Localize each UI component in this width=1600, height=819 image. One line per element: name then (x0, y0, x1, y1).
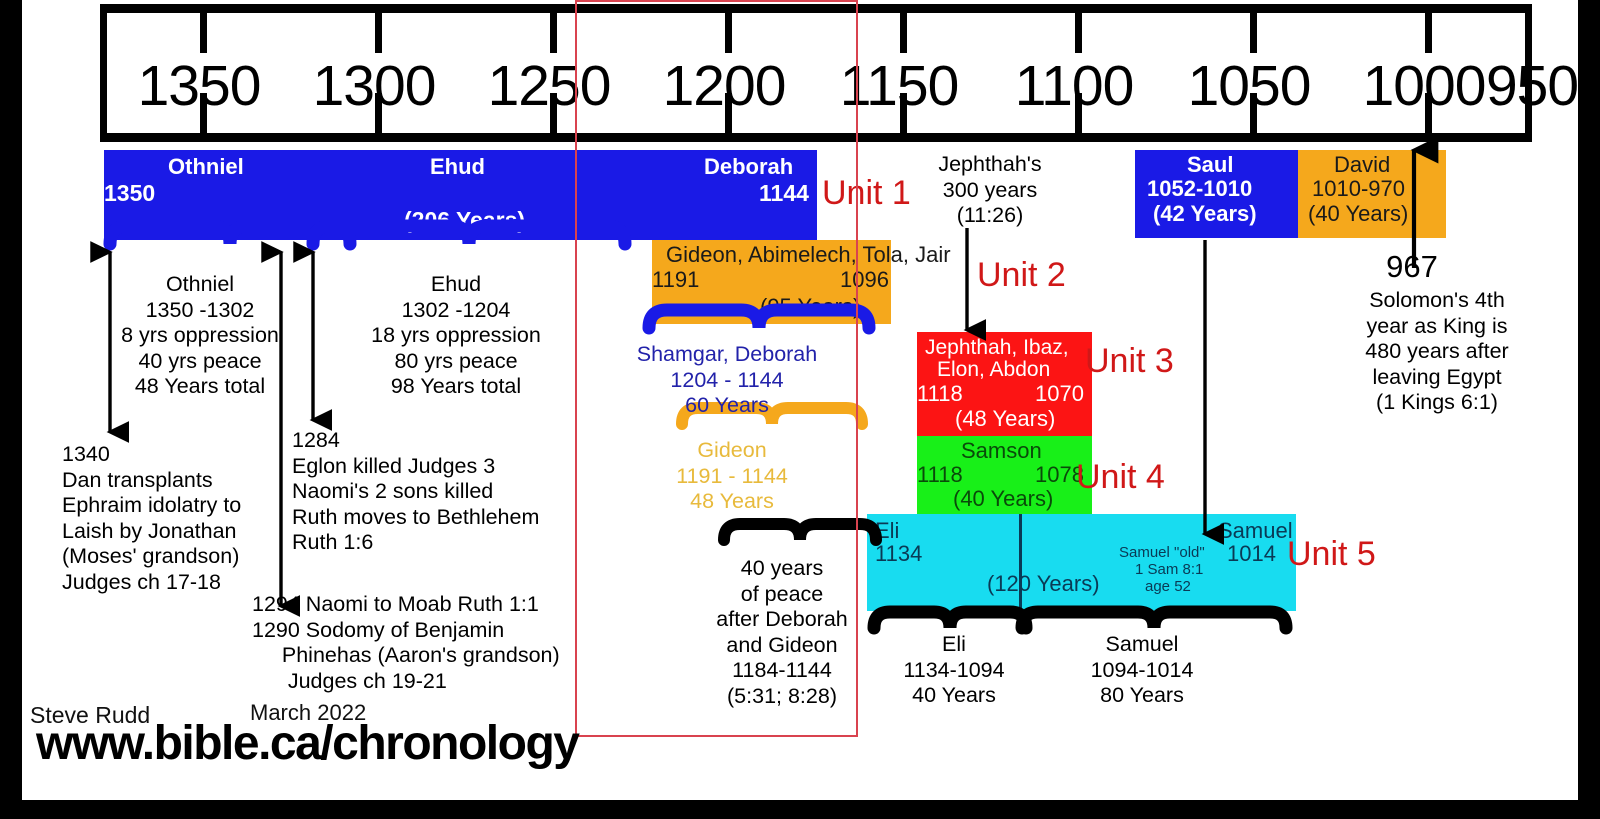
bar-value-david-years: (40 Years) (1308, 201, 1408, 227)
axis-tick-up (550, 13, 557, 53)
bar-value-samson-years: (40 Years) (953, 486, 1053, 512)
bar-value-samuel-end: 1014 (1227, 541, 1276, 567)
bar-cyan-eli-samuel[interactable]: Eli 1134 (120 Years) Samuel 1014 Samuel … (867, 514, 1296, 611)
bar-label-othniel: Othniel (168, 154, 244, 180)
bar-value-eli-start: 1134 (875, 541, 922, 567)
bar-value-ehud-years: (206 Years) (404, 207, 525, 234)
screenshot-root: 1350 1300 1250 1200 1150 1100 1050 1000 … (0, 0, 1600, 819)
note-samuel-brace: Samuel 1094-1014 80 Years (1042, 632, 1242, 709)
axis-tick-up (1075, 13, 1082, 53)
bar-label-ehud: Ehud (430, 154, 485, 180)
axis-tick-up (375, 13, 382, 53)
note-jephthah-300: Jephthah's 300 years (11:26) (914, 152, 1066, 229)
bar-label-jephthah-2: Elon, Abdon (937, 358, 1050, 382)
note-ehud-block: Ehud 1302 -1204 18 yrs oppression 80 yrs… (340, 272, 572, 400)
note-samuel-old: Samuel "old" (1119, 544, 1205, 561)
bar-red-jephthah[interactable]: Jephthah, Ibaz, Elon, Abdon 1118 1070 (4… (917, 332, 1092, 436)
axis-tick-up (200, 13, 207, 53)
note-samuel-age: age 52 (1145, 578, 1191, 595)
bar-green-samson[interactable]: Samson 1118 1078 (40 Years) (917, 436, 1092, 514)
note-samuel-ref: 1 Sam 8:1 (1135, 561, 1203, 578)
axis-tick-up (1425, 13, 1432, 53)
bar-blue-saul[interactable]: Saul 1052-1010 (42 Years) (1135, 150, 1298, 238)
note-othniel-1340: 1340 Dan transplants Ephraim idolatry to… (62, 442, 312, 595)
unit-label-3: Unit 3 (1085, 342, 1174, 381)
unit-label-2: Unit 2 (977, 256, 1066, 295)
note-othniel-block: Othniel 1350 -1302 8 yrs oppression 40 y… (86, 272, 314, 400)
bar-value-jephthah-end: 1070 (1035, 381, 1084, 407)
axis-tick-up (900, 13, 907, 53)
axis-label-1350: 1350 (104, 53, 294, 119)
bar-value-saul-range: 1052-1010 (1147, 176, 1252, 202)
note-solomon-block: Solomon's 4th year as King is 480 years … (1312, 288, 1562, 416)
red-highlight-rectangle[interactable] (575, 0, 858, 737)
bar-value-jephthah-start: 1118 (917, 381, 963, 407)
bar-orange-david[interactable]: David 1010-970 (40 Years) (1298, 150, 1446, 238)
note-eli-brace: Eli 1134-1094 40 Years (874, 632, 1034, 709)
bar-value-othniel-start: 1350 (104, 180, 155, 207)
axis-label-1100: 1100 (979, 53, 1169, 119)
bar-label-jephthah-1: Jephthah, Ibaz, (925, 336, 1069, 360)
chart-canvas: 1350 1300 1250 1200 1150 1100 1050 1000 … (22, 0, 1578, 800)
bar-label-samson: Samson (961, 438, 1042, 464)
axis-label-950: 950 (1437, 53, 1600, 119)
bar-value-jephthah-years: (48 Years) (955, 406, 1055, 432)
note-967: 967 (1342, 250, 1482, 284)
bar-label-david: David (1334, 152, 1390, 178)
divider-eli-samuel (1019, 514, 1022, 611)
footer-url: www.bible.ca/chronology (36, 716, 578, 771)
axis-label-1300: 1300 (279, 53, 469, 119)
bar-value-total-years: (120 Years) (987, 571, 1100, 597)
bar-value-samson-start: 1118 (917, 462, 963, 488)
axis-tick-up (1250, 13, 1257, 53)
bar-value-david-range: 1010-970 (1312, 176, 1405, 202)
axis-label-1050: 1050 (1154, 53, 1344, 119)
note-ehud-1284: 1284 Eglon killed Judges 3 Naomi's 2 son… (292, 428, 582, 556)
bar-value-saul-years: (42 Years) (1153, 201, 1257, 227)
unit-label-5: Unit 5 (1287, 535, 1376, 574)
bar-label-saul: Saul (1187, 152, 1233, 178)
unit-label-4: Unit 4 (1076, 458, 1165, 497)
